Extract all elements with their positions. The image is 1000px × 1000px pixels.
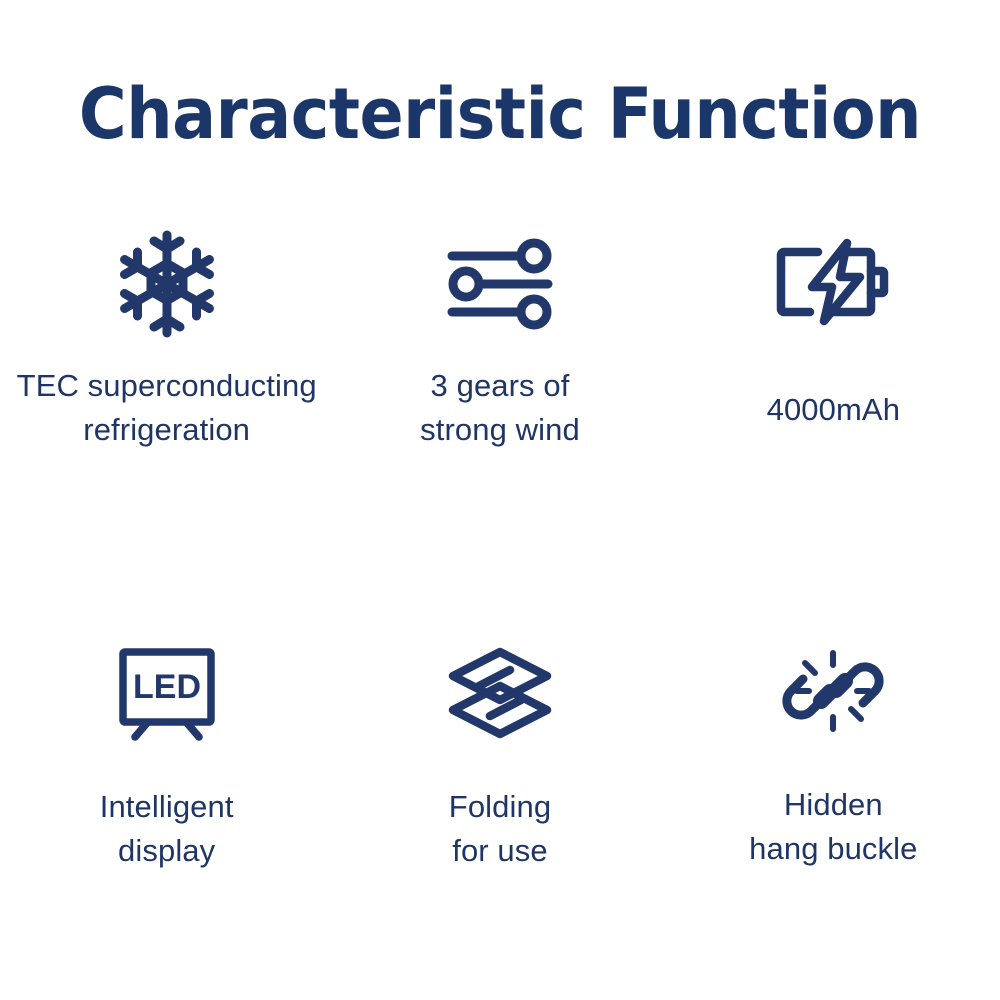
feature-item-tec-refrigeration: TEC superconducting refrigeration: [0, 190, 333, 452]
feature-label: Hidden hang buckle: [749, 783, 917, 871]
led-display-icon: LED: [108, 637, 226, 749]
feature-item-folding: Folding for use: [333, 595, 666, 873]
feature-item-hang-buckle: Hidden hang buckle: [667, 595, 1000, 871]
feature-label: 3 gears of strong wind: [420, 364, 580, 452]
feature-item-wind-gears: 3 gears of strong wind: [333, 190, 666, 452]
feature-label: Intelligent display: [100, 785, 234, 873]
feature-grid: TEC superconducting refrigeration 3 gear…: [0, 190, 1000, 1000]
snowflake-icon: [108, 228, 226, 340]
feature-item-battery-capacity: 4000mAh: [667, 190, 1000, 432]
feature-label: Folding for use: [449, 785, 551, 873]
broken-chain-link-icon: [774, 635, 892, 747]
page-header: Characteristic Function: [0, 78, 1000, 190]
feature-item-intelligent-display: LED Intelligent display: [0, 595, 333, 873]
sliders-icon: [441, 228, 559, 340]
feature-highlight-page: Characteristic Function: [0, 0, 1000, 1000]
folding-layers-icon: [441, 637, 559, 749]
battery-charging-icon: [774, 226, 892, 338]
feature-label: 4000mAh: [767, 388, 900, 432]
page-title: Characteristic Function: [35, 78, 965, 152]
feature-label: TEC superconducting refrigeration: [17, 364, 317, 452]
led-screen-text: LED: [133, 668, 201, 706]
